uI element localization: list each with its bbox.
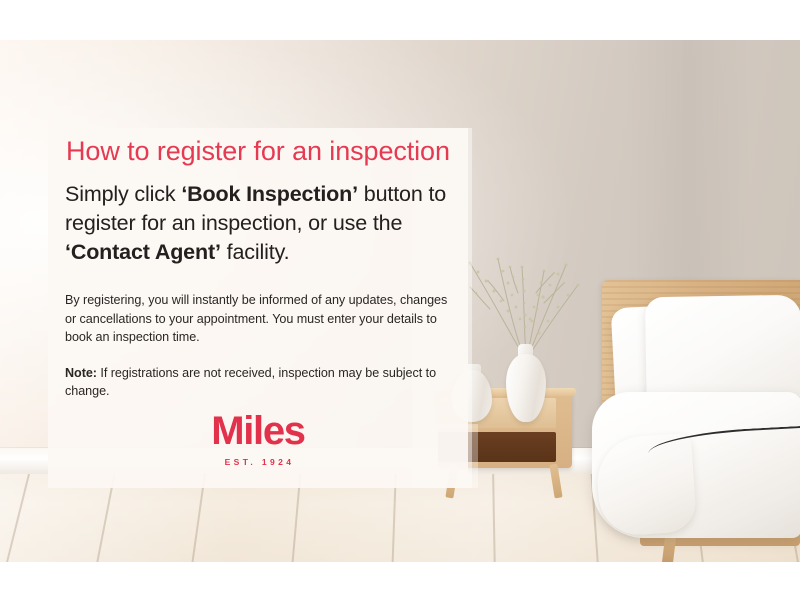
page-title: How to register for an inspection (66, 136, 450, 167)
body-copy: By registering, you will instantly be in… (65, 291, 455, 401)
bedroom-scene-photo: How to register for an inspection Simply… (0, 40, 800, 562)
note-paragraph: Note: If registrations are not received,… (65, 364, 455, 401)
note-label: Note: (65, 366, 97, 380)
lead-text-3: facility. (221, 240, 290, 264)
nightstand-leg-right (549, 464, 562, 499)
lead-text-1: Simply click (65, 182, 181, 206)
logo-established: EST. 1924 (48, 457, 468, 467)
brand-logo: Miles EST. 1924 (48, 410, 468, 467)
promotional-graphic: How to register for an inspection Simply… (0, 0, 800, 600)
registration-info-paragraph: By registering, you will instantly be in… (65, 291, 455, 347)
logo-wordmark: Miles (48, 410, 468, 452)
lead-paragraph: Simply click ‘Book Inspection’ button to… (65, 180, 465, 267)
note-text: If registrations are not received, inspe… (65, 366, 436, 399)
contact-agent-emphasis: ‘Contact Agent’ (65, 240, 221, 264)
promo-content: How to register for an inspection Simply… (48, 128, 468, 488)
book-inspection-emphasis: ‘Book Inspection’ (181, 182, 358, 206)
